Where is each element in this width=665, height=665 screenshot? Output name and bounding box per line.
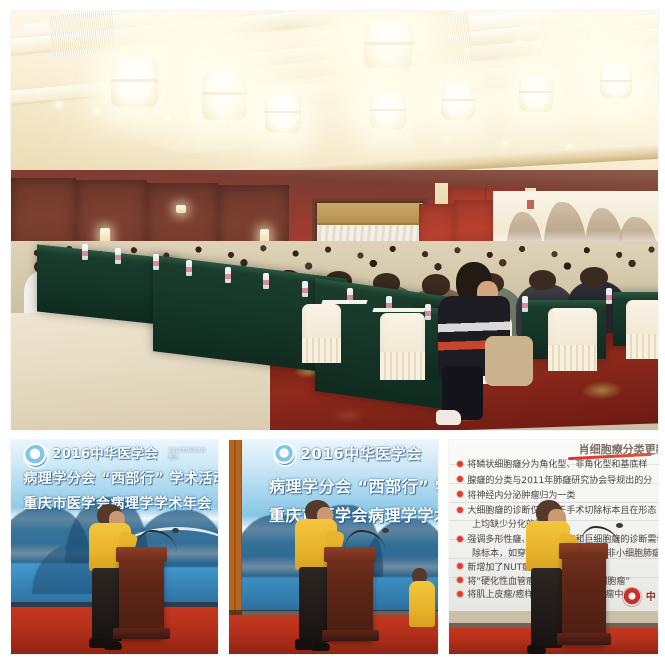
crystal-curtain (539, 13, 621, 70)
drum-chandelier (364, 24, 413, 68)
downlight (231, 120, 236, 123)
water-bottle (225, 267, 231, 283)
podium (562, 543, 606, 646)
cma-pathology-emblem-icon (25, 445, 47, 467)
slide-bullet-line: 将鳞状细胞癰分为角化型、非角化型和基底样 (457, 457, 647, 470)
podium-base (322, 630, 379, 641)
window-valance (317, 203, 423, 225)
podium (327, 547, 373, 641)
covered-chair (302, 304, 341, 363)
speaker-photo-closer[interactable]: 2016中华医学会 病理学分会 “西部行” 学术活动 重庆市医学会病理学学术年会 (229, 440, 438, 654)
handout-paper (321, 300, 368, 304)
chair-skirt (548, 345, 597, 371)
covered-chair (380, 313, 425, 380)
drum-chandelier (441, 84, 475, 120)
table-top (613, 292, 658, 299)
mural-seal (527, 200, 534, 209)
banner-line-2: 病理学分会 “西部行” 学术活动 (269, 473, 438, 497)
hospital-emblem-label: 中 (646, 588, 656, 603)
banner-line-1: 2016中华医学会 (52, 443, 158, 462)
speaker-photo-wide[interactable]: 2016中华医学会 2016年8月26日 重庆 病理学分会 “西部行” 学术活动… (11, 440, 218, 654)
bullet-icon (457, 461, 463, 467)
drum-chandelier (111, 59, 158, 107)
cma-pathology-emblem-icon (275, 445, 295, 465)
bullet-icon (457, 591, 463, 597)
stage-wood-column (229, 440, 242, 628)
podium (119, 547, 165, 639)
speaker-shoe (527, 645, 545, 654)
chair-skirt (302, 338, 341, 363)
water-bottle (302, 281, 308, 297)
drum-chandelier (519, 76, 553, 112)
podium-base (113, 628, 169, 639)
podium-base (557, 633, 611, 645)
crystal-curtain (48, 11, 117, 58)
chair-skirt (380, 352, 425, 380)
assistant-shirt (409, 581, 436, 626)
banner-line-1: 2016中华医学会 (300, 443, 421, 464)
downlight (166, 116, 171, 119)
photo-collage: 2016中华医学会 2016年8月26日 重庆 病理学分会 “西部行” 学术活动… (0, 0, 665, 665)
speaker-shoe (311, 642, 329, 651)
water-bottle (82, 244, 88, 260)
water-bottle (115, 248, 121, 264)
bullet-icon (457, 476, 463, 482)
wall-sconce (176, 205, 186, 213)
water-bottle (606, 288, 612, 304)
drum-chandelier (600, 65, 632, 99)
slide-line-text: 将鳞状细胞癰分为角化型、非角化型和基底样 (467, 457, 647, 470)
speaker-shoe (104, 641, 122, 650)
conference-hall-photo[interactable] (11, 11, 658, 430)
banner-line-2: 病理学分会 “西部行” 学术活动 (23, 468, 218, 488)
drum-chandelier (265, 95, 301, 133)
slide-bullet-line: 新增加了NUT癰 (457, 560, 531, 573)
crystal-curtain (410, 12, 473, 67)
chair-skirt (626, 334, 658, 359)
drum-chandelier (370, 93, 406, 131)
hall-scene (11, 11, 658, 430)
bullet-icon (457, 491, 463, 497)
foreground-attendee (432, 262, 536, 430)
bullet-icon (457, 577, 463, 583)
hospital-emblem-icon (623, 588, 641, 606)
bullet-icon (457, 507, 463, 513)
water-bottle (153, 254, 159, 270)
attendee-shoe (436, 410, 461, 425)
drum-chandelier (202, 72, 247, 120)
bullet-icon (457, 536, 463, 542)
slide-line-text: 新增加了NUT癰 (467, 560, 531, 573)
covered-chair (626, 300, 658, 359)
crystal-curtain (203, 28, 252, 66)
banner-corner-note: 2016年8月26日 重庆 (168, 448, 205, 462)
microphone-head-icon (382, 528, 389, 533)
water-bottle (425, 304, 431, 320)
handout-paper (373, 308, 426, 312)
slide-line-text: 腺癰的分类与2011年肺癰研究协会导规出的分 (467, 473, 652, 486)
downlight (464, 49, 469, 52)
attendee-head (580, 267, 607, 287)
slide-bullet-line: 腺癰的分类与2011年肺癰研究协会导规出的分 (457, 473, 652, 486)
water-bottle (186, 260, 192, 276)
downlight (503, 141, 508, 144)
covered-chair (548, 308, 597, 371)
assistant-figure (409, 568, 438, 641)
slide-photo[interactable]: 肖细胞療分类更新 将鳞状细胞癰分为角化型、非角化型和基底样 腺癰的分类与2011… (449, 440, 658, 654)
attendee-seat (485, 336, 533, 386)
water-bottle (263, 273, 269, 289)
bullet-icon (457, 563, 463, 569)
